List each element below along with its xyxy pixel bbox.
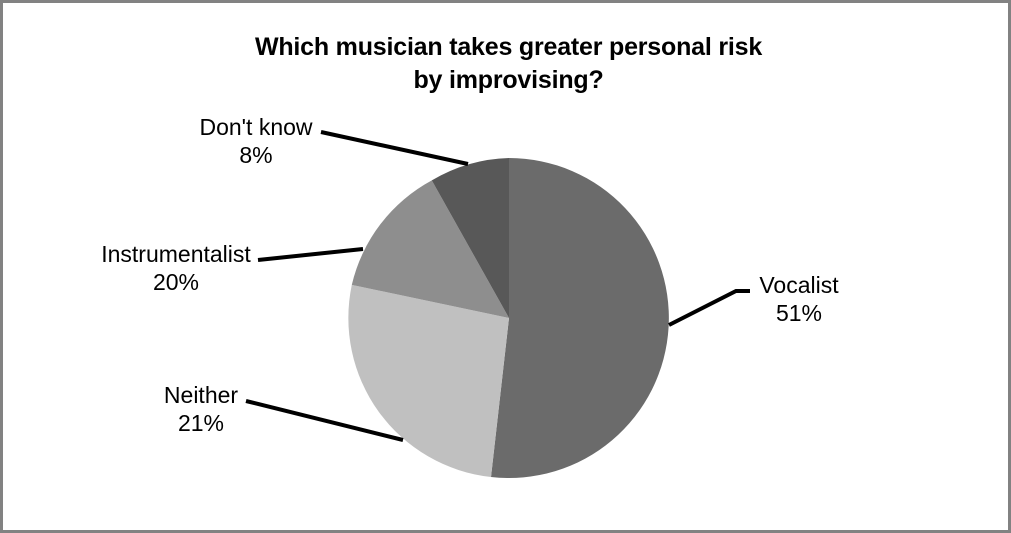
pie-label-vocalist-pct: 51%: [750, 299, 848, 327]
pie-slice-vocalist: [491, 158, 669, 478]
pie-label-dont-know-pct: 8%: [189, 141, 323, 169]
pie-slice-neither: [348, 285, 509, 477]
pie-label-instrumentalist-name: Instrumentalist: [91, 240, 261, 268]
pie-label-neither-name: Neither: [155, 381, 247, 409]
pie-label-instrumentalist-pct: 20%: [91, 268, 261, 296]
chart-frame: Which musician takes greater personal ri…: [0, 0, 1011, 533]
pie-label-vocalist: Vocalist 51%: [750, 271, 848, 327]
pie-label-instrumentalist: Instrumentalist 20%: [91, 240, 261, 296]
pie-label-dont-know-name: Don't know: [189, 113, 323, 141]
pie-label-neither: Neither 21%: [155, 381, 247, 437]
leader-line-dont-know: [321, 132, 468, 164]
pie-label-neither-pct: 21%: [155, 409, 247, 437]
pie-label-vocalist-name: Vocalist: [750, 271, 848, 299]
pie-label-dont-know: Don't know 8%: [189, 113, 323, 169]
leader-line-vocalist: [669, 291, 750, 325]
leader-line-instrumentalist: [258, 249, 363, 260]
